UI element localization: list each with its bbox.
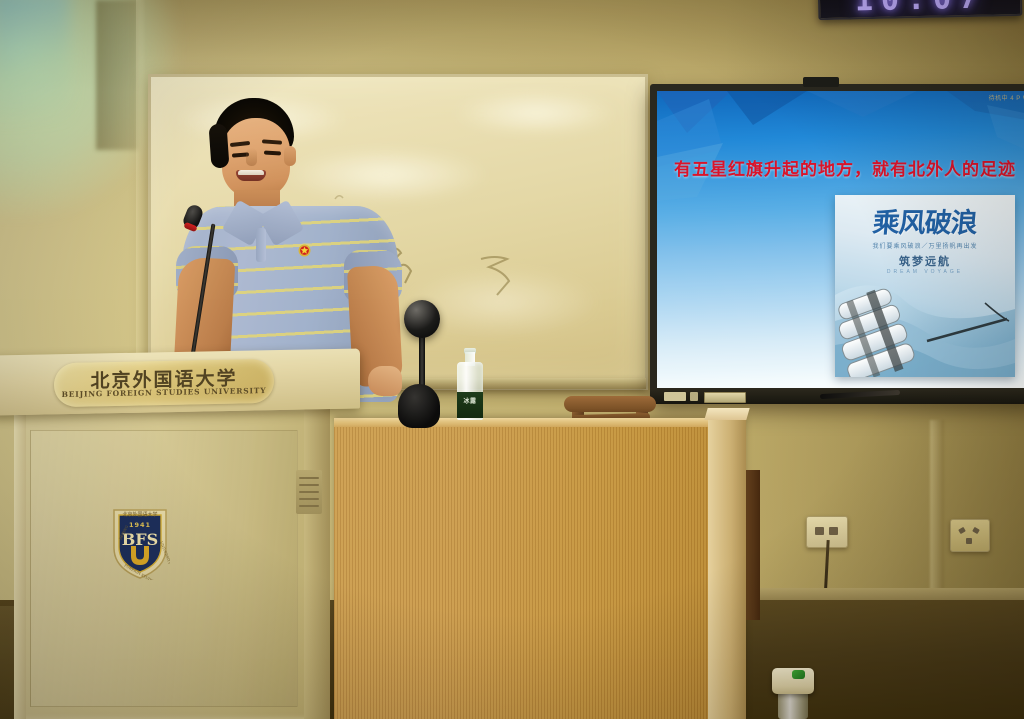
desk-water-bottle[interactable]: 冰露 bbox=[456, 348, 484, 420]
display-corner-label: 待机中 4 P W bbox=[989, 93, 1024, 102]
poster-subtitle-en: DREAM VOYAGE bbox=[835, 269, 1015, 275]
display-port-usb[interactable] bbox=[664, 392, 686, 401]
slide-headline: 有五星红旗升起的地方，就有北外人的足迹 bbox=[657, 155, 1024, 180]
presenter-nose bbox=[246, 148, 257, 166]
projector-light-edge bbox=[0, 0, 70, 120]
floor-water-bottle[interactable] bbox=[770, 668, 816, 719]
table-microphone-head bbox=[404, 300, 440, 338]
wall-mounted-flatscreen[interactable]: tall-ship-sails-and-waves 待机中 4 P W 有五星红… bbox=[650, 84, 1024, 402]
chair-backrest bbox=[564, 396, 656, 412]
lectern-edge-right bbox=[304, 408, 330, 719]
poster-subtitle-main: 筑梦远航 bbox=[835, 253, 1015, 269]
presenter-ear bbox=[284, 146, 296, 166]
wooden-table-right-face bbox=[708, 412, 746, 719]
party-emblem-pin-icon bbox=[298, 244, 311, 257]
presenter-teeth bbox=[238, 170, 264, 175]
wooden-table-top-edge bbox=[334, 418, 746, 427]
bfsu-shield-emblem: 北京外国语大学 1941 BFS BEIJING FOREIGN STUDIES… bbox=[110, 506, 170, 580]
clock-time: 10:07 bbox=[820, 0, 1021, 19]
table-microphone-base bbox=[398, 384, 440, 428]
display-camera-icon bbox=[803, 77, 839, 87]
lectern-nameplate: 北京外国语大学 BEIJING FOREIGN STUDIES UNIVERSI… bbox=[54, 359, 274, 407]
speaker-lectern: 北京外国语大学 BEIJING FOREIGN STUDIES UNIVERSI… bbox=[0, 352, 360, 719]
wooden-table-right-top bbox=[704, 408, 749, 420]
lectern-edge-left bbox=[14, 408, 26, 719]
poster-title: 乘风破浪 bbox=[835, 201, 1015, 240]
display-port-panel[interactable] bbox=[704, 392, 746, 403]
svg-text:北京外国语大学: 北京外国语大学 bbox=[122, 511, 157, 518]
poster-subtitle-small: 我们要乘风破浪／万里扬帆再出发 bbox=[835, 241, 1015, 250]
desk-bottle-label-text: 冰露 bbox=[457, 396, 483, 405]
lecture-hall-photo: 10:07 tall-ship-sails-an bbox=[0, 0, 1024, 719]
presenter-hand bbox=[368, 366, 402, 396]
power-wall-socket[interactable] bbox=[950, 519, 990, 552]
desk-bottle-label: 冰露 bbox=[457, 392, 483, 418]
display-screen: tall-ship-sails-and-waves 待机中 4 P W 有五星红… bbox=[657, 91, 1024, 395]
wall-pillar-shadow bbox=[96, 0, 138, 150]
presenter-shirt-placket bbox=[256, 228, 266, 262]
wooden-lecture-table bbox=[334, 418, 746, 719]
lectern-vent bbox=[296, 470, 322, 514]
presenter-hair-side bbox=[208, 123, 229, 168]
floor-bottle-cap-accent bbox=[792, 670, 805, 679]
slide-poster: 乘风破浪 我们要乘风破浪／万里扬帆再出发 筑梦远航 DREAM VOYAGE bbox=[835, 195, 1015, 377]
svg-text:1941: 1941 bbox=[129, 521, 151, 529]
display-port-small[interactable] bbox=[690, 392, 698, 401]
floor-bottle-neck bbox=[778, 692, 808, 719]
